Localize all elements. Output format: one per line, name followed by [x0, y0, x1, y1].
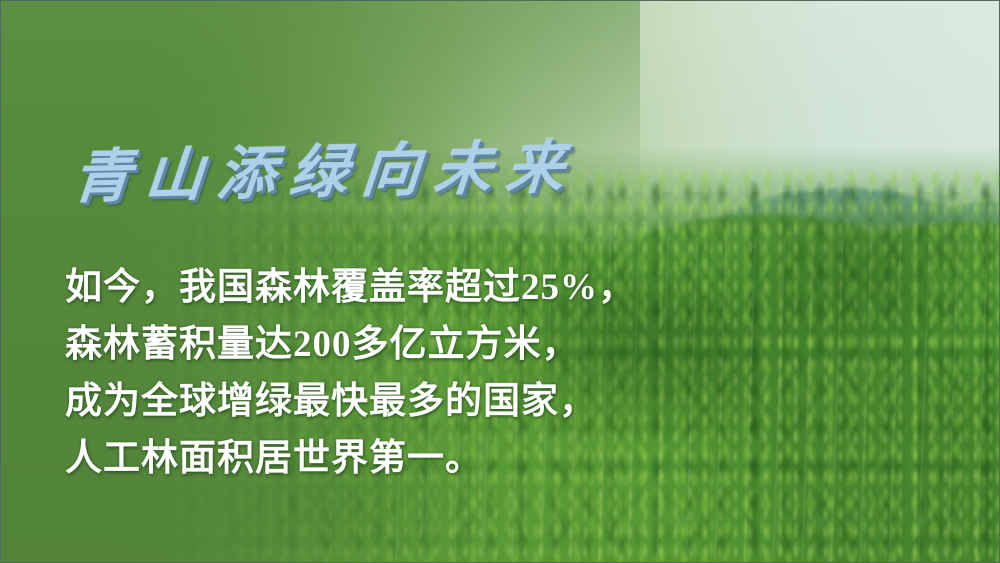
body-line-3: 成为全球增绿最快最多的国家，	[65, 373, 625, 430]
slide-body-text: 如今，我国森林覆盖率超过25%， 森林蓄积量达200多亿立方米， 成为全球增绿最…	[65, 259, 625, 487]
slide-headline: 青山添绿向未来	[71, 138, 581, 207]
slide-content: 青山添绿向未来 如今，我国森林覆盖率超过25%， 森林蓄积量达200多亿立方米，…	[1, 1, 999, 562]
body-line-2: 森林蓄积量达200多亿立方米，	[65, 316, 625, 373]
poster-slide: 青山添绿向未来 如今，我国森林覆盖率超过25%， 森林蓄积量达200多亿立方米，…	[0, 0, 1000, 563]
body-line-1: 如今，我国森林覆盖率超过25%，	[65, 259, 625, 316]
body-line-4: 人工林面积居世界第一。	[65, 430, 625, 487]
